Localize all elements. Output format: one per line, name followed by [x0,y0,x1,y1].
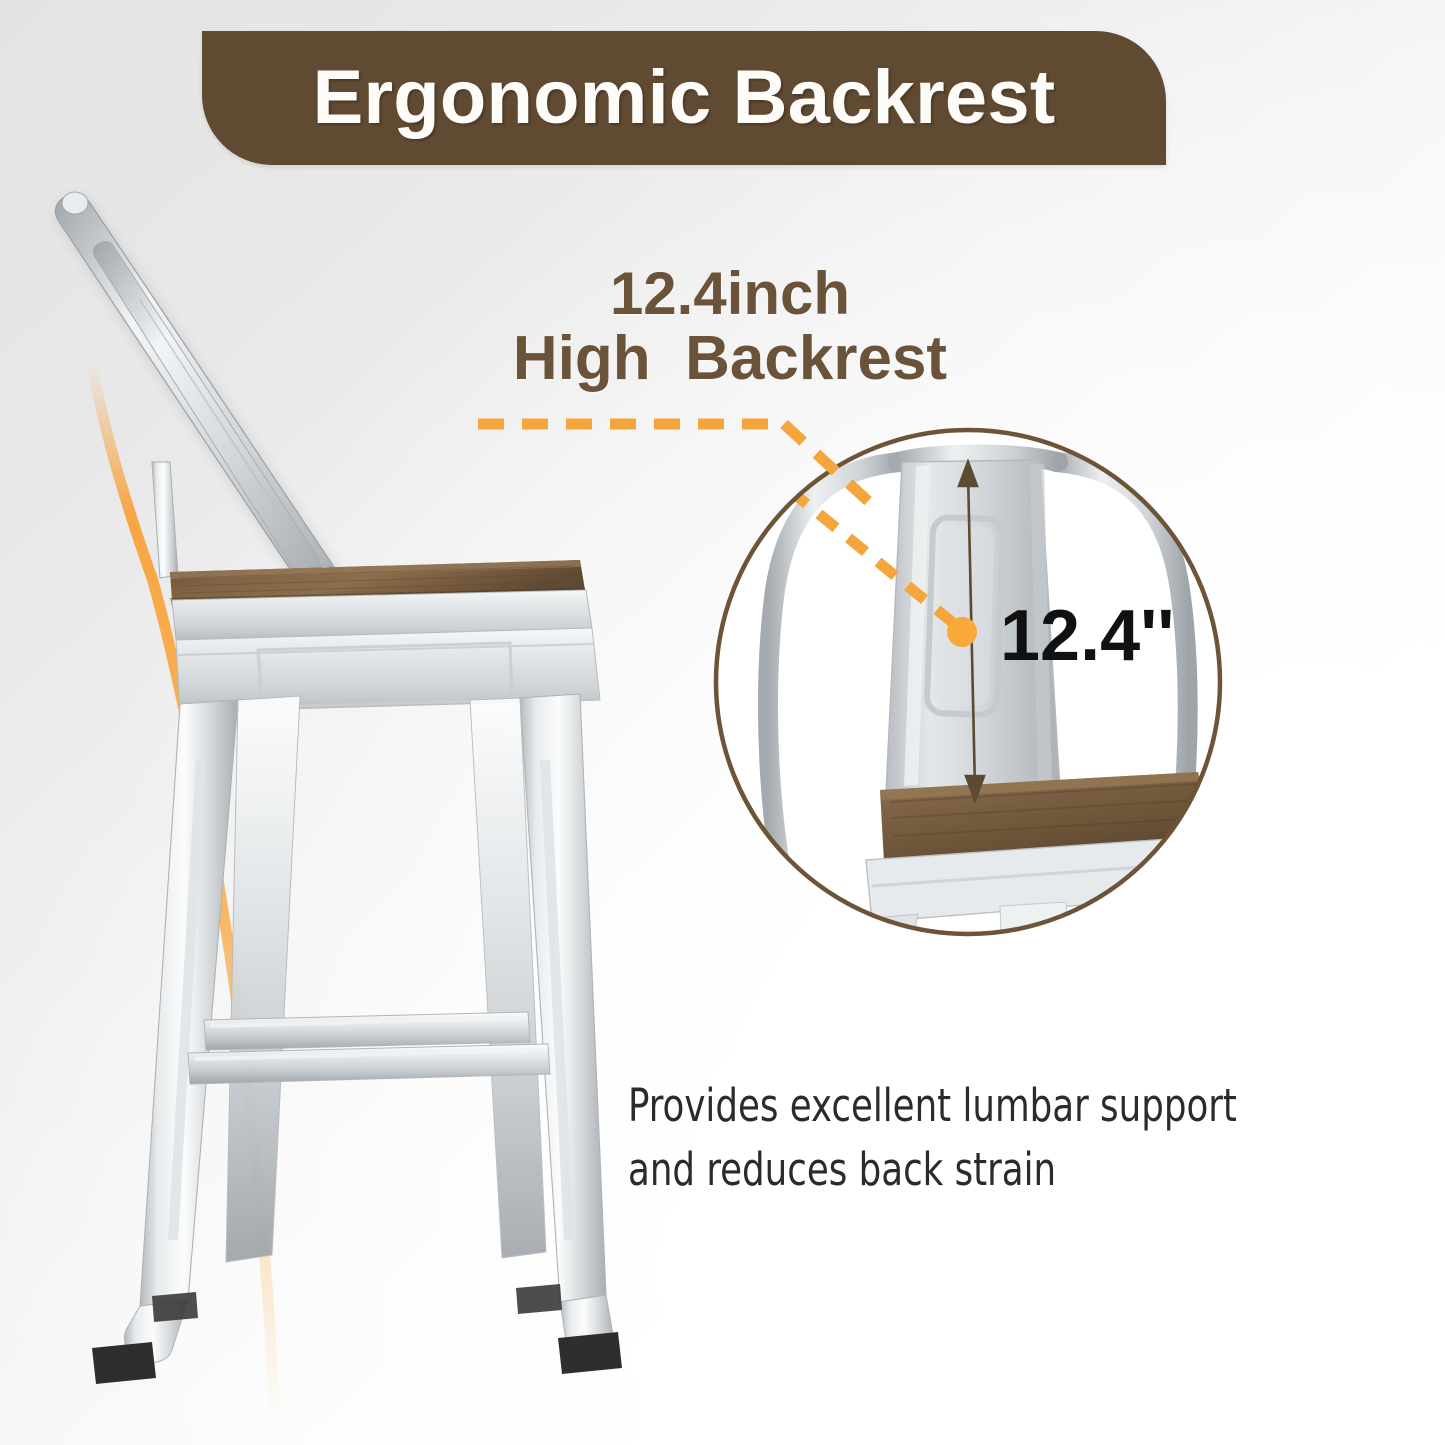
feature-banner: Ergonomic Backrest [202,31,1166,165]
caption-line-2: and reduces back strain [628,1138,1332,1202]
caption-block: Provides excellent lumbar support and re… [628,1074,1332,1202]
headline-line-2: High Backrest [420,326,1040,392]
measurement-label-text: 12.4'' [1000,596,1174,676]
magnified-detail-callout: 12.4'' [0,0,1445,1445]
headline-line-1: 12.4inch [420,262,1040,326]
leader-endpoint-dot [947,617,977,647]
headline-block: 12.4inch High Backrest [420,262,1040,391]
caption-line-1: Provides excellent lumbar support [628,1074,1332,1138]
product-feature-image: 12.4'' Ergonomic Backrest 12.4inch High … [0,0,1445,1445]
banner-title: Ergonomic Backrest [313,60,1056,136]
